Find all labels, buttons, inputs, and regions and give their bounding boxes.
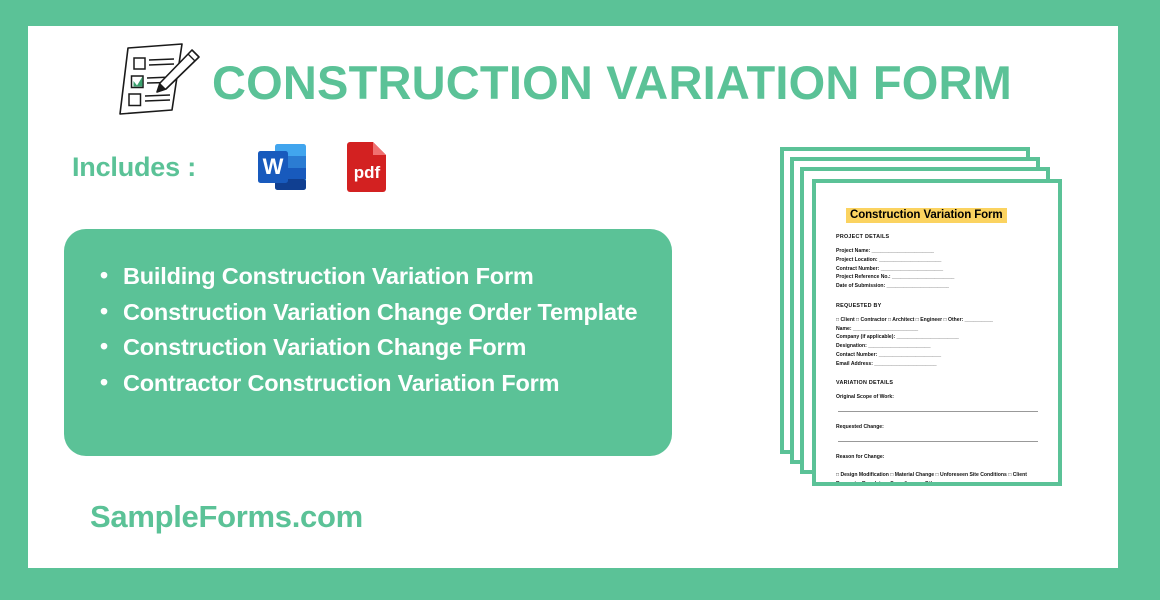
field-company: Company (if applicable): _______________…	[836, 333, 1040, 342]
label-requested-change: Requested Change:	[836, 423, 1040, 432]
write-in-line	[838, 441, 1038, 442]
header: CONSTRUCTION VARIATION FORM	[98, 34, 1098, 130]
field-name: Name: _______________________	[836, 325, 1040, 334]
word-icon: W	[254, 138, 312, 196]
list-item: Construction Variation Change Form	[94, 330, 646, 366]
includes-row: Includes : W pdf	[72, 138, 396, 196]
spacer	[836, 462, 1040, 471]
filetype-icons: W pdf	[254, 138, 396, 196]
field-contact-number: Contact Number: ______________________	[836, 351, 1040, 360]
document-title: Construction Variation Form	[846, 208, 1007, 223]
includes-label: Includes :	[72, 152, 196, 183]
field-designation: Designation: ______________________	[836, 342, 1040, 351]
white-card: CONSTRUCTION VARIATION FORM Includes : W	[28, 26, 1118, 568]
poster-canvas: CONSTRUCTION VARIATION FORM Includes : W	[0, 0, 1160, 600]
write-in-line	[838, 411, 1038, 412]
svg-text:W: W	[263, 154, 284, 179]
field-contract-number: Contract Number: ______________________	[836, 265, 1040, 274]
svg-text:pdf: pdf	[354, 163, 381, 182]
section-heading-variation-details: VARIATION DETAILS	[836, 380, 1040, 386]
section-heading-requested-by: REQUESTED BY	[836, 303, 1040, 309]
label-original-scope-of-work: Original Scope of Work:	[836, 393, 1040, 402]
spacer	[836, 368, 1040, 380]
list-item: Contractor Construction Variation Form	[94, 366, 646, 402]
document-stack-preview: Construction Variation Form PROJECT DETA…	[780, 147, 1090, 527]
bullet-list: Building Construction Variation Form Con…	[94, 259, 646, 402]
page-title: CONSTRUCTION VARIATION FORM	[212, 59, 1012, 106]
pdf-icon: pdf	[338, 138, 396, 196]
document-page-content: Construction Variation Form PROJECT DETA…	[816, 183, 1058, 482]
label-reason-for-change: Reason for Change:	[836, 453, 1040, 462]
field-email-address: Email Address: ______________________	[836, 360, 1040, 369]
field-project-name: Project Name: ______________________	[836, 247, 1040, 256]
field-project-location: Project Location: ______________________	[836, 256, 1040, 265]
field-date-of-submission: Date of Submission: ____________________…	[836, 282, 1040, 291]
list-item: Construction Variation Change Order Temp…	[94, 295, 646, 331]
checkbox-row-reason-for-change: □ Design Modification □ Material Change …	[836, 471, 1040, 482]
brand-footer: SampleForms.com	[90, 499, 363, 535]
spacer	[836, 291, 1040, 303]
includes-list-panel: Building Construction Variation Form Con…	[64, 229, 672, 456]
checklist-pen-icon	[98, 38, 208, 126]
section-heading-project-details: PROJECT DETAILS	[836, 234, 1040, 240]
field-project-reference-no: Project Reference No.: _________________…	[836, 273, 1040, 282]
document-sheet-front: Construction Variation Form PROJECT DETA…	[812, 179, 1062, 486]
checkbox-row-requested-by: □ Client □ Contractor □ Architect □ Engi…	[836, 316, 1040, 325]
list-item: Building Construction Variation Form	[94, 259, 646, 295]
